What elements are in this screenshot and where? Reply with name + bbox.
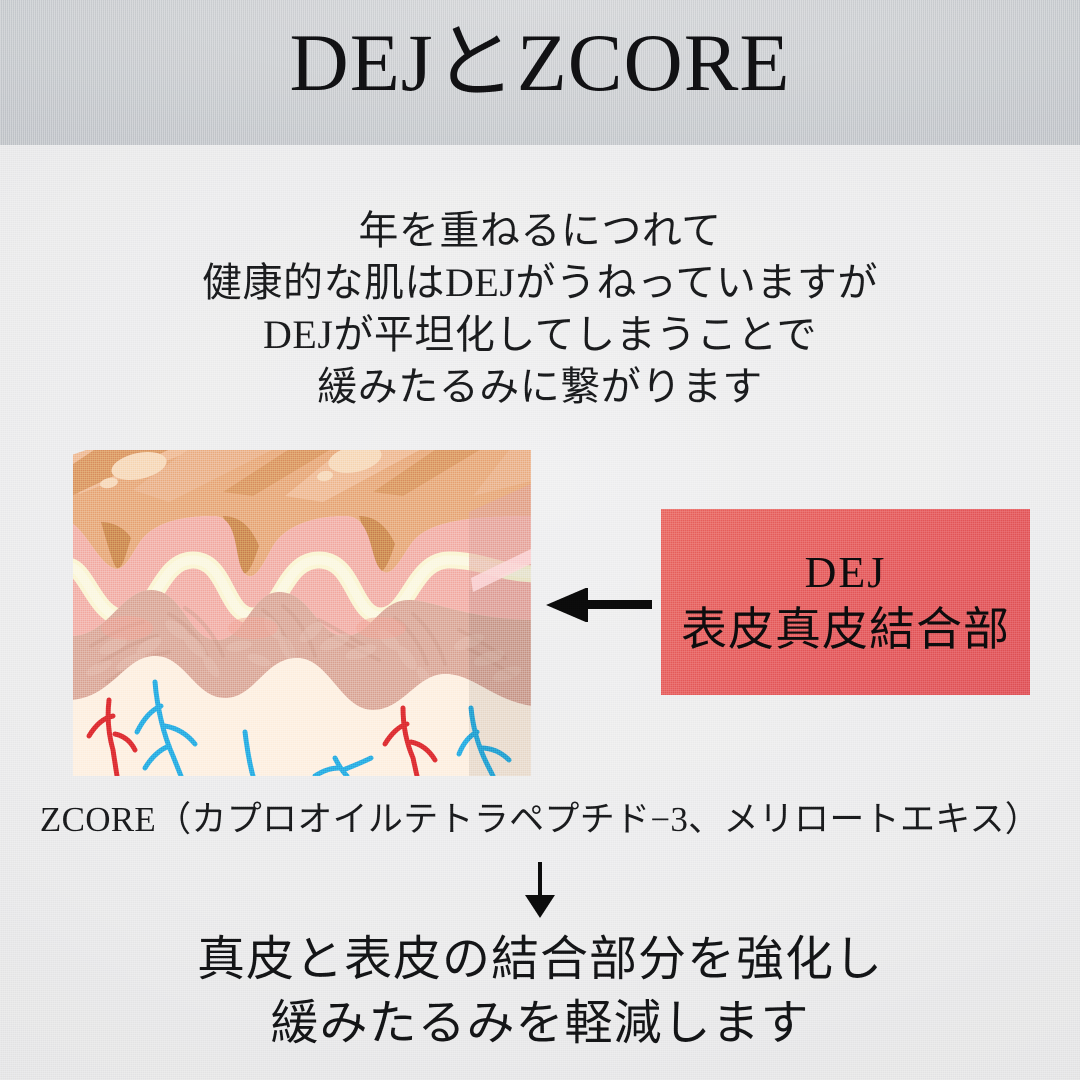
intro-line-2: 健康的な肌はDEJがうねっていますが (0, 257, 1080, 309)
skin-cross-section-illustration (73, 450, 531, 776)
dej-callout-box: DEJ 表皮真皮結合部 (661, 509, 1030, 695)
side-face-shading (469, 484, 531, 776)
intro-paragraph: 年を重ねるにつれて 健康的な肌はDEJがうねっていますが DEJが平坦化してしま… (0, 205, 1080, 413)
header-band: DEJとZCORE (0, 0, 1080, 145)
conclusion-paragraph: 真皮と表皮の結合部分を強化し 緩みたるみを軽減します (0, 928, 1080, 1056)
intro-line-3: DEJが平坦化してしまうことで (0, 309, 1080, 361)
conclusion-line-1: 真皮と表皮の結合部分を強化し (0, 928, 1080, 992)
intro-line-4: 緩みたるみに繋がります (0, 361, 1080, 413)
arrow-down-icon (0, 862, 1080, 922)
epidermis-surface-layer (73, 450, 531, 512)
page-title: DEJとZCORE (0, 18, 1080, 108)
dej-callout-line-2: 表皮真皮結合部 (681, 601, 1010, 659)
dej-callout-line-1: DEJ (805, 545, 887, 601)
zcore-ingredient-caption: ZCORE（カプロオイルテトラペプチド−3、メリロートエキス） (0, 797, 1080, 843)
poster-root: DEJとZCORE 年を重ねるにつれて 健康的な肌はDEJがうねっていますが D… (0, 0, 1080, 1080)
conclusion-line-2: 緩みたるみを軽減します (0, 992, 1080, 1056)
intro-line-1: 年を重ねるにつれて (0, 205, 1080, 257)
arrow-left-icon (546, 588, 652, 622)
